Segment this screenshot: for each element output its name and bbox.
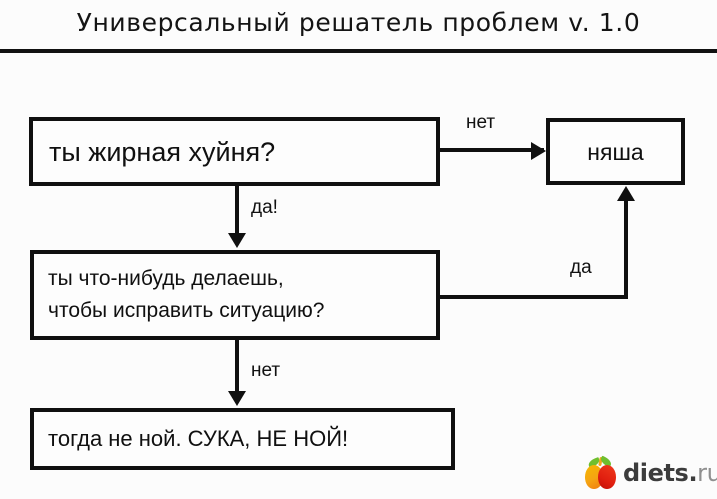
edge-fat-to-nyasha-label: нет <box>466 112 495 134</box>
node-fat-question: ты жирная хуйня? <box>29 117 440 186</box>
watermark-name: diets <box>623 459 688 487</box>
node-nyasha-result-label: няша <box>550 139 681 165</box>
edge-doing-to-nyasha-vertical-line <box>624 200 628 299</box>
edge-doing-to-stop-arrowhead-icon <box>228 391 246 406</box>
watermark-dot: . <box>688 459 697 487</box>
edge-doing-to-nyasha-horizontal-line <box>440 295 628 299</box>
node-nyasha-result: няша <box>546 118 685 185</box>
edge-fat-to-nyasha-line <box>440 148 544 152</box>
title-divider <box>0 49 717 53</box>
edge-fat-to-doing-line <box>235 186 239 234</box>
flowchart-page: Универсальный решатель проблем v. 1.0 ты… <box>0 0 717 499</box>
edge-fat-to-doing-label: да! <box>251 197 278 219</box>
edge-doing-to-nyasha-label: да <box>570 257 592 279</box>
page-title: Универсальный решатель проблем v. 1.0 <box>0 8 717 37</box>
edge-doing-to-stop-label: нет <box>251 360 280 382</box>
node-fat-question-label: ты жирная хуйня? <box>49 137 436 167</box>
node-stop-whining-label: тогда не ной. СУКА, НЕ НОЙ! <box>48 426 451 452</box>
watermark: diets.ru <box>585 457 717 489</box>
apple-body-right-icon <box>598 465 616 489</box>
watermark-tld: ru <box>697 459 717 487</box>
node-stop-whining: тогда не ной. СУКА, НЕ НОЙ! <box>30 408 455 470</box>
edge-doing-to-stop-line <box>235 340 239 392</box>
edge-fat-to-nyasha-arrowhead-icon <box>531 142 546 160</box>
node-doing-question-label: ты что-нибудь делаешь, чтобы исправить с… <box>48 263 436 327</box>
edge-fat-to-doing-arrowhead-icon <box>228 233 246 248</box>
node-doing-question: ты что-нибудь делаешь, чтобы исправить с… <box>30 250 440 340</box>
watermark-text: diets.ru <box>623 459 717 487</box>
apple-icon <box>585 457 616 489</box>
edge-doing-to-nyasha-arrowhead-icon <box>617 186 635 201</box>
